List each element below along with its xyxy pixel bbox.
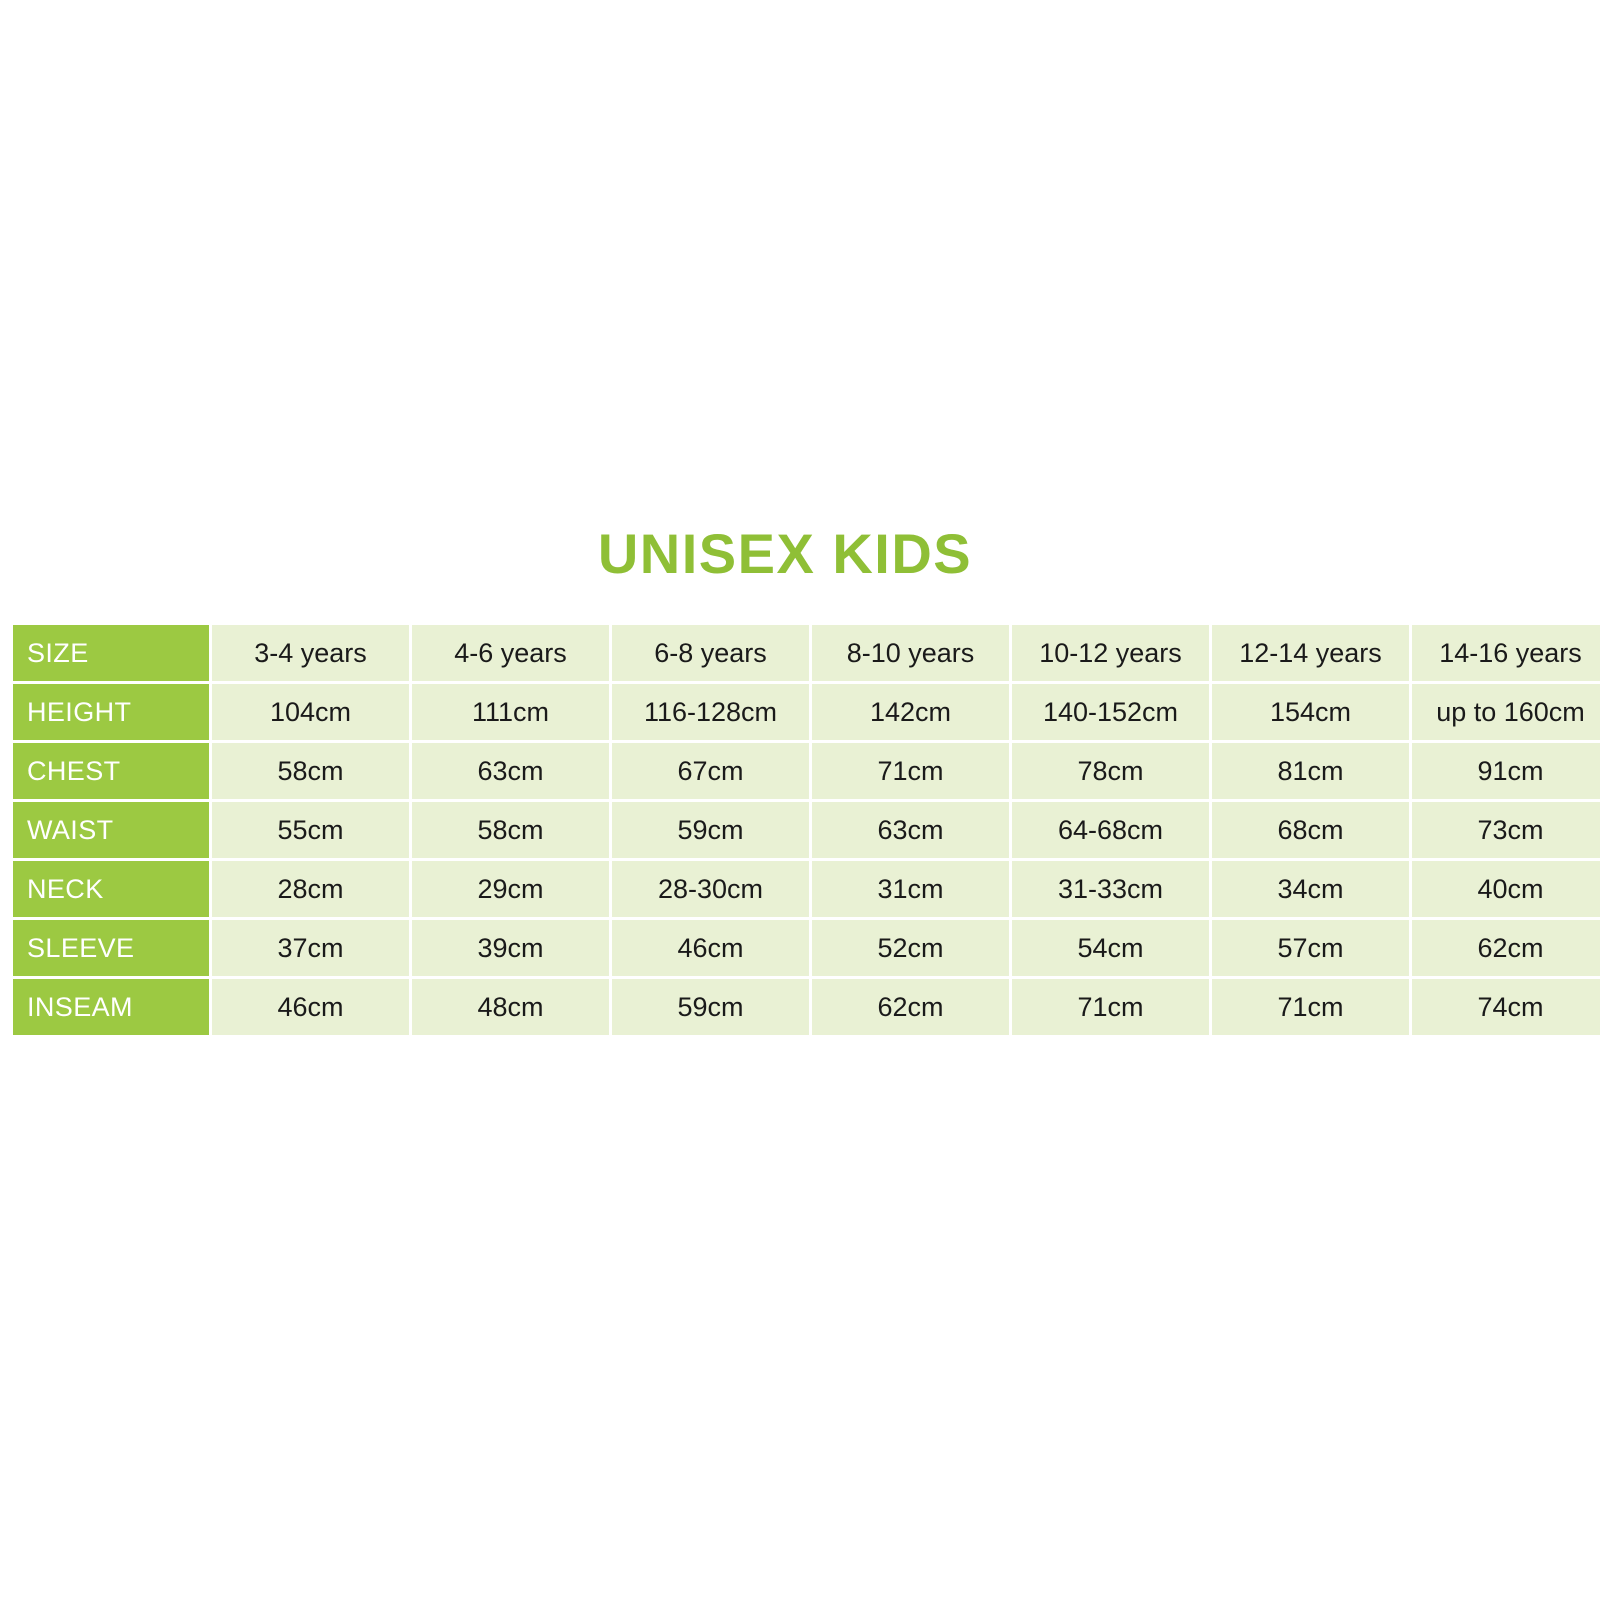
table-row: NECK 28cm 29cm 28-30cm 31cm 31-33cm 34cm… bbox=[13, 861, 1600, 917]
row-label-height: HEIGHT bbox=[13, 684, 209, 740]
table-cell: 74cm bbox=[1412, 979, 1600, 1035]
row-label-sleeve: SLEEVE bbox=[13, 920, 209, 976]
size-chart-table: SIZE 3-4 years 4-6 years 6-8 years 8-10 … bbox=[10, 622, 1600, 1038]
table-cell: 68cm bbox=[1212, 802, 1409, 858]
table-cell: 54cm bbox=[1012, 920, 1209, 976]
size-chart-page: UNISEX KIDS SIZE 3-4 years 4-6 years 6-8… bbox=[0, 0, 1600, 1600]
table-cell: 116-128cm bbox=[612, 684, 809, 740]
table-cell: 104cm bbox=[212, 684, 409, 740]
table-cell: 62cm bbox=[1412, 920, 1600, 976]
table-cell: 67cm bbox=[612, 743, 809, 799]
table-cell: 58cm bbox=[412, 802, 609, 858]
table-cell: 10-12 years bbox=[1012, 625, 1209, 681]
table-cell: 78cm bbox=[1012, 743, 1209, 799]
table-cell: 40cm bbox=[1412, 861, 1600, 917]
page-title: UNISEX KIDS bbox=[0, 524, 1570, 584]
table-cell: 71cm bbox=[1212, 979, 1409, 1035]
table-cell: up to 160cm bbox=[1412, 684, 1600, 740]
table-cell: 111cm bbox=[412, 684, 609, 740]
table-cell: 12-14 years bbox=[1212, 625, 1409, 681]
row-label-neck: NECK bbox=[13, 861, 209, 917]
table-cell: 48cm bbox=[412, 979, 609, 1035]
table-cell: 63cm bbox=[812, 802, 1009, 858]
row-label-inseam: INSEAM bbox=[13, 979, 209, 1035]
table-cell: 81cm bbox=[1212, 743, 1409, 799]
table-cell: 62cm bbox=[812, 979, 1009, 1035]
row-label-chest: CHEST bbox=[13, 743, 209, 799]
table-cell: 64-68cm bbox=[1012, 802, 1209, 858]
table-cell: 57cm bbox=[1212, 920, 1409, 976]
table-cell: 31cm bbox=[812, 861, 1009, 917]
table-cell: 4-6 years bbox=[412, 625, 609, 681]
table-cell: 71cm bbox=[1012, 979, 1209, 1035]
table-cell: 154cm bbox=[1212, 684, 1409, 740]
table-cell: 37cm bbox=[212, 920, 409, 976]
table-cell: 6-8 years bbox=[612, 625, 809, 681]
table-row: SIZE 3-4 years 4-6 years 6-8 years 8-10 … bbox=[13, 625, 1600, 681]
table-cell: 59cm bbox=[612, 979, 809, 1035]
table-cell: 73cm bbox=[1412, 802, 1600, 858]
table-cell: 46cm bbox=[612, 920, 809, 976]
row-label-waist: WAIST bbox=[13, 802, 209, 858]
table-cell: 28cm bbox=[212, 861, 409, 917]
table-cell: 91cm bbox=[1412, 743, 1600, 799]
table-row: HEIGHT 104cm 111cm 116-128cm 142cm 140-1… bbox=[13, 684, 1600, 740]
table-cell: 28-30cm bbox=[612, 861, 809, 917]
table-cell: 34cm bbox=[1212, 861, 1409, 917]
table-cell: 39cm bbox=[412, 920, 609, 976]
table-row: CHEST 58cm 63cm 67cm 71cm 78cm 81cm 91cm bbox=[13, 743, 1600, 799]
table-cell: 31-33cm bbox=[1012, 861, 1209, 917]
table-body: SIZE 3-4 years 4-6 years 6-8 years 8-10 … bbox=[13, 625, 1600, 1035]
table-cell: 58cm bbox=[212, 743, 409, 799]
table-cell: 29cm bbox=[412, 861, 609, 917]
table-cell: 59cm bbox=[612, 802, 809, 858]
table-cell: 71cm bbox=[812, 743, 1009, 799]
table-cell: 63cm bbox=[412, 743, 609, 799]
table-cell: 14-16 years bbox=[1412, 625, 1600, 681]
table-cell: 8-10 years bbox=[812, 625, 1009, 681]
table-cell: 3-4 years bbox=[212, 625, 409, 681]
table-cell: 140-152cm bbox=[1012, 684, 1209, 740]
table-row: WAIST 55cm 58cm 59cm 63cm 64-68cm 68cm 7… bbox=[13, 802, 1600, 858]
table-row: SLEEVE 37cm 39cm 46cm 52cm 54cm 57cm 62c… bbox=[13, 920, 1600, 976]
table-row: INSEAM 46cm 48cm 59cm 62cm 71cm 71cm 74c… bbox=[13, 979, 1600, 1035]
row-label-size: SIZE bbox=[13, 625, 209, 681]
table-cell: 55cm bbox=[212, 802, 409, 858]
table-cell: 142cm bbox=[812, 684, 1009, 740]
table-cell: 52cm bbox=[812, 920, 1009, 976]
table-cell: 46cm bbox=[212, 979, 409, 1035]
